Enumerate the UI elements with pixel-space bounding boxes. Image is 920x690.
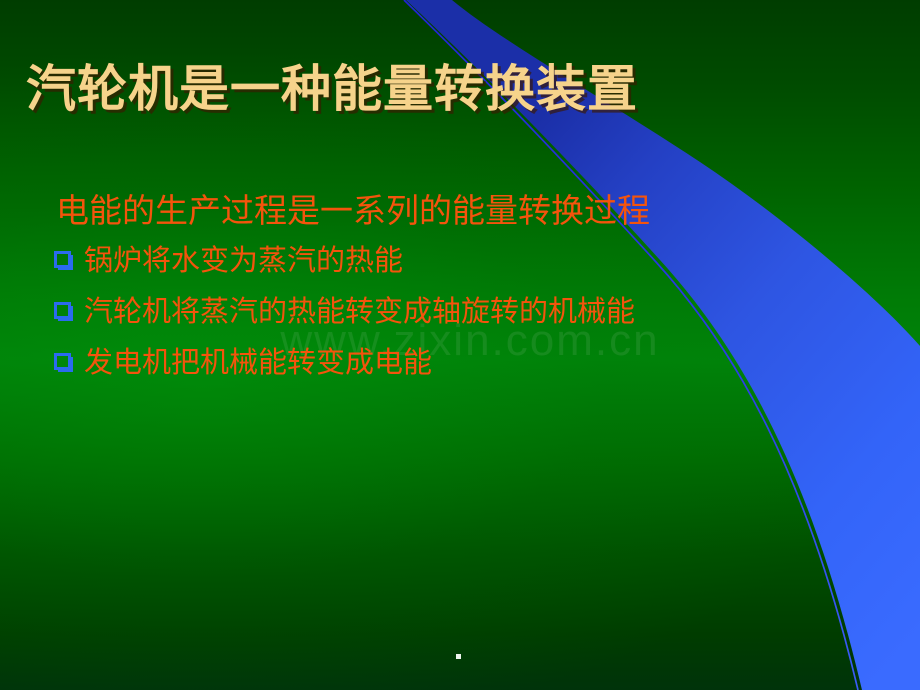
page-marker-dot <box>456 654 461 659</box>
hollow-square-bullet-icon <box>54 302 71 319</box>
lead-paragraph: 电能的生产过程是一系列的能量转换过程 <box>56 188 872 234</box>
list-item: 汽轮机将蒸汽的热能转变成轴旋转的机械能 <box>52 291 872 332</box>
bullet-list: 锅炉将水变为蒸汽的热能 汽轮机将蒸汽的热能转变成轴旋转的机械能 发电机把机械能转… <box>52 240 872 383</box>
hollow-square-bullet-icon <box>54 251 71 268</box>
bullet-label: 锅炉将水变为蒸汽的热能 <box>84 240 403 281</box>
list-item: 锅炉将水变为蒸汽的热能 <box>52 240 872 281</box>
list-item: 发电机把机械能转变成电能 <box>52 342 872 383</box>
bullet-label: 汽轮机将蒸汽的热能转变成轴旋转的机械能 <box>84 291 635 332</box>
slide-title: 汽轮机是一种能量转换装置 <box>26 58 786 120</box>
bullet-label: 发电机把机械能转变成电能 <box>84 342 432 383</box>
hollow-square-bullet-icon <box>54 353 71 370</box>
slide-body: 电能的生产过程是一系列的能量转换过程 锅炉将水变为蒸汽的热能 汽轮机将蒸汽的热能… <box>52 188 872 393</box>
slide-canvas: www.zixin.com.cn 汽轮机是一种能量转换装置 电能的生产过程是一系… <box>0 0 920 690</box>
